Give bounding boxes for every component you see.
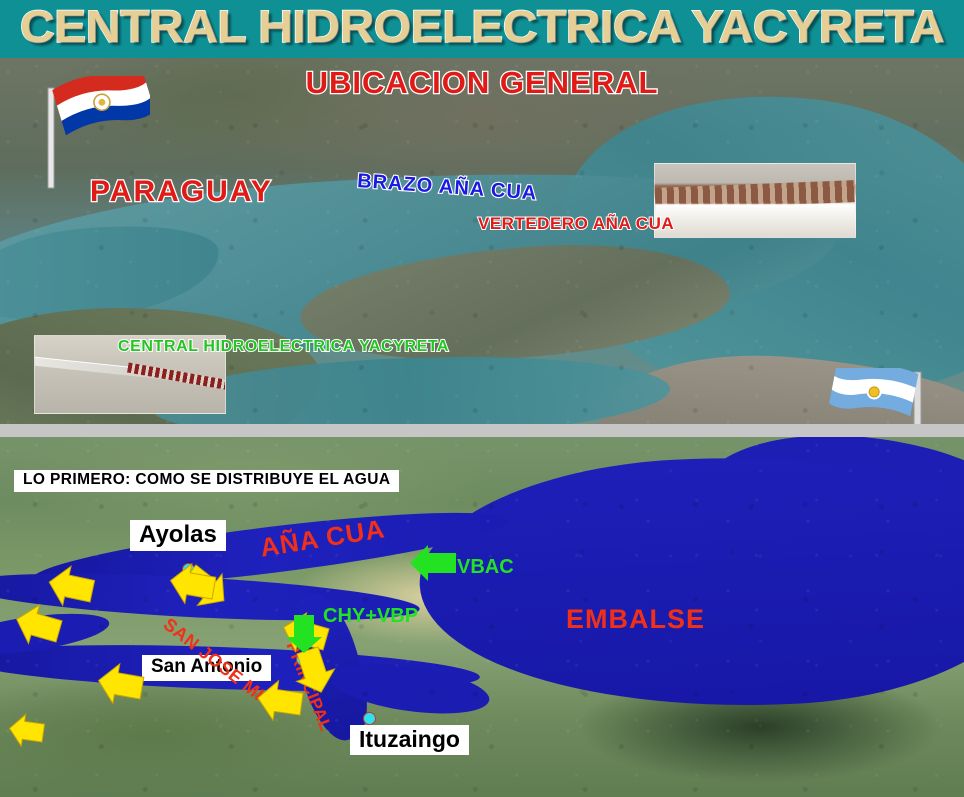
- water-distribution-panel: LO PRIMERO: COMO SE DISTRIBUYE EL AGUA A…: [0, 437, 964, 797]
- argentina-flag: [826, 368, 936, 424]
- panel-divider: [0, 424, 964, 437]
- label-paraguay: PARAGUAY: [90, 175, 273, 209]
- gauge-dot-san-antonio: [296, 653, 309, 666]
- label-central-hidroelectrica-yacyreta: CENTRAL HIDROELECTRICA YACYRETA: [118, 338, 449, 356]
- label-embalse: EMBALSE: [566, 604, 705, 635]
- ana-cua-spillway-photo: [654, 163, 856, 238]
- label-ituzaingo: Ituzaingo: [350, 725, 469, 755]
- embalse-reservoir: [414, 441, 964, 723]
- location-map-panel: UBICACION GENERAL PARAGUAY BRAZO AÑA CUA…: [0, 58, 964, 424]
- label-chy-vbp: CHY+VBP: [323, 605, 418, 628]
- spillway-water-foam: [655, 204, 855, 238]
- label-vbac: VBAC: [457, 556, 514, 579]
- gauge-dot-ayolas: [182, 563, 195, 576]
- page-title: CENTRAL HIDROELECTRICA YACYRETA: [0, 1, 964, 53]
- panel-top-title: UBICACION GENERAL: [0, 65, 964, 101]
- gauge-dot-ituzaingo: [363, 712, 376, 725]
- label-vertedero-ana-cua: VERTEDERO AÑA CUA: [478, 214, 674, 234]
- panel-bottom-heading: LO PRIMERO: COMO SE DISTRIBUYE EL AGUA: [14, 470, 399, 492]
- label-ayolas: Ayolas: [130, 520, 226, 551]
- header-bar: CENTRAL HIDROELECTRICA YACYRETA: [0, 0, 964, 58]
